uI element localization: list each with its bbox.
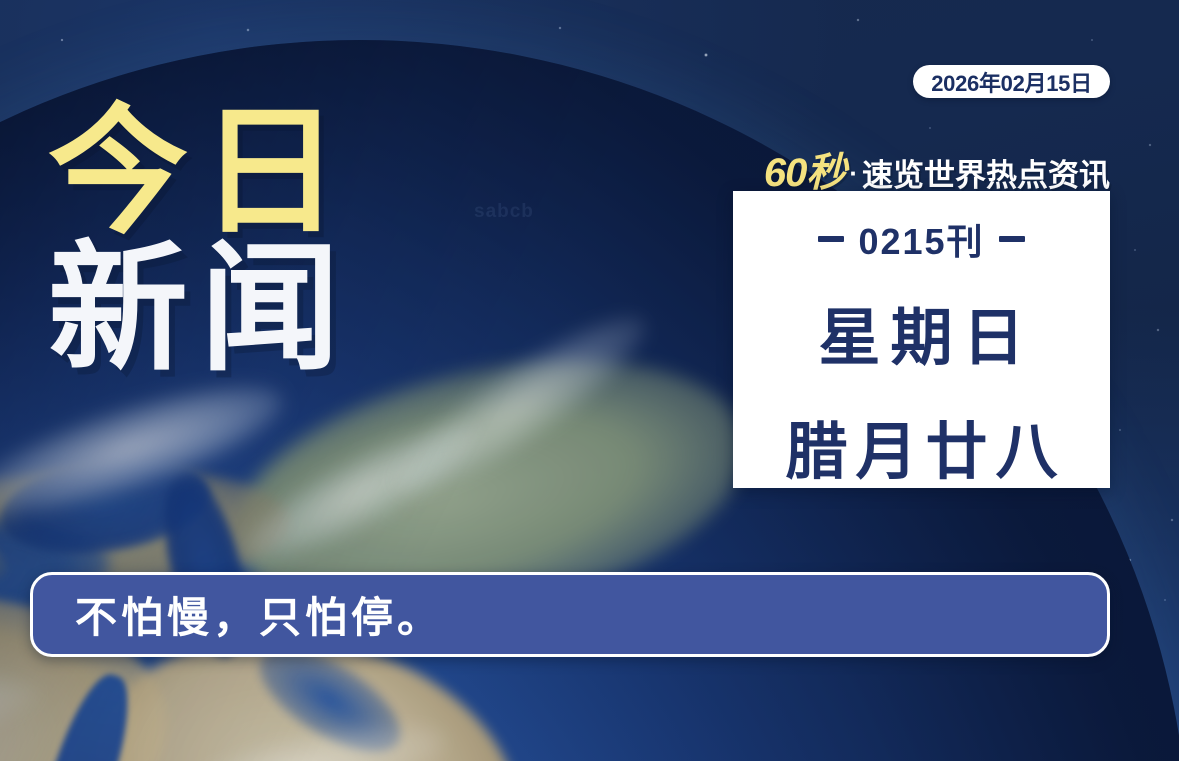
- dash-right-icon: [999, 236, 1025, 242]
- issue-number-row: 0215刊: [818, 213, 1024, 265]
- quote-bar: 不怕慢，只怕停。: [30, 572, 1110, 657]
- tagline-text: 速览世界热点资讯: [862, 150, 1110, 195]
- info-card: 0215刊 星期日 腊月廿八: [733, 191, 1110, 488]
- quote-text: 不怕慢，只怕停。: [75, 584, 443, 645]
- date-badge: 2026年02月15日: [913, 65, 1110, 98]
- dash-left-icon: [818, 236, 844, 242]
- background-watermark: sabcb: [474, 201, 534, 223]
- weekday-label: 星期日: [808, 287, 1034, 377]
- lunar-date-label: 腊月廿八: [777, 401, 1065, 491]
- page-title: 今日 新闻: [48, 96, 468, 384]
- news-poster: sabcb 今日 新闻 2026年02月15日 60秒 · 速览世界热点资讯 0…: [0, 0, 1179, 761]
- title-line-news: 新闻: [48, 233, 468, 384]
- tagline: 60秒 · 速览世界热点资讯: [741, 140, 1110, 188]
- tagline-separator: ·: [849, 158, 858, 189]
- tagline-seconds: 60秒: [764, 140, 846, 198]
- title-line-today: 今日: [48, 96, 468, 247]
- issue-number: 0215刊: [858, 213, 984, 265]
